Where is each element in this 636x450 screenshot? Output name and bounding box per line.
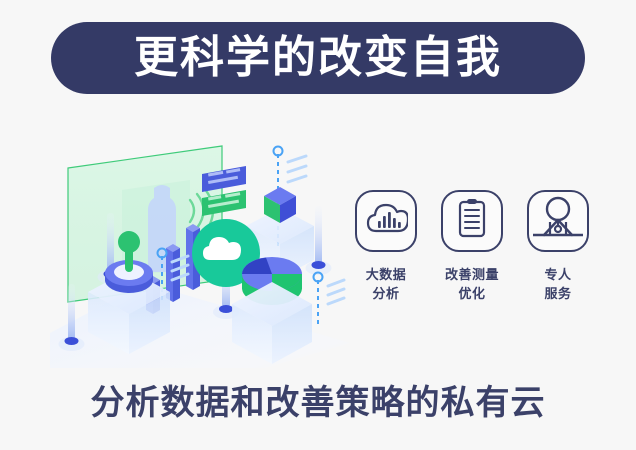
feature-list: 大数据 分析 改善测量 优化 — [350, 190, 594, 330]
tagline: 分析数据和改善策略的私有云 — [0, 385, 636, 422]
illustration — [50, 128, 350, 368]
feature-icon-box — [441, 190, 503, 252]
cloud-bar-chart-icon — [364, 201, 408, 242]
poster-root: 更科学的改变自我 — [0, 0, 636, 450]
header-pill: 更科学的改变自我 — [51, 22, 585, 94]
feature-improvement-measurement[interactable]: 改善测量 优化 — [436, 190, 508, 304]
service-agent-icon — [531, 195, 585, 248]
feature-icon-box — [355, 190, 417, 252]
clipboard-lines-icon — [454, 198, 490, 245]
feature-label: 改善测量 优化 — [445, 266, 499, 304]
page-title: 更科学的改变自我 — [134, 36, 502, 80]
feature-label: 专人 服务 — [544, 266, 571, 304]
feature-dedicated-service[interactable]: 专人 服务 — [522, 190, 594, 304]
dashed-pin-marker — [314, 273, 345, 325]
feature-icon-box — [527, 190, 589, 252]
feature-big-data-analysis[interactable]: 大数据 分析 — [350, 190, 422, 304]
feature-label: 大数据 分析 — [366, 266, 407, 304]
